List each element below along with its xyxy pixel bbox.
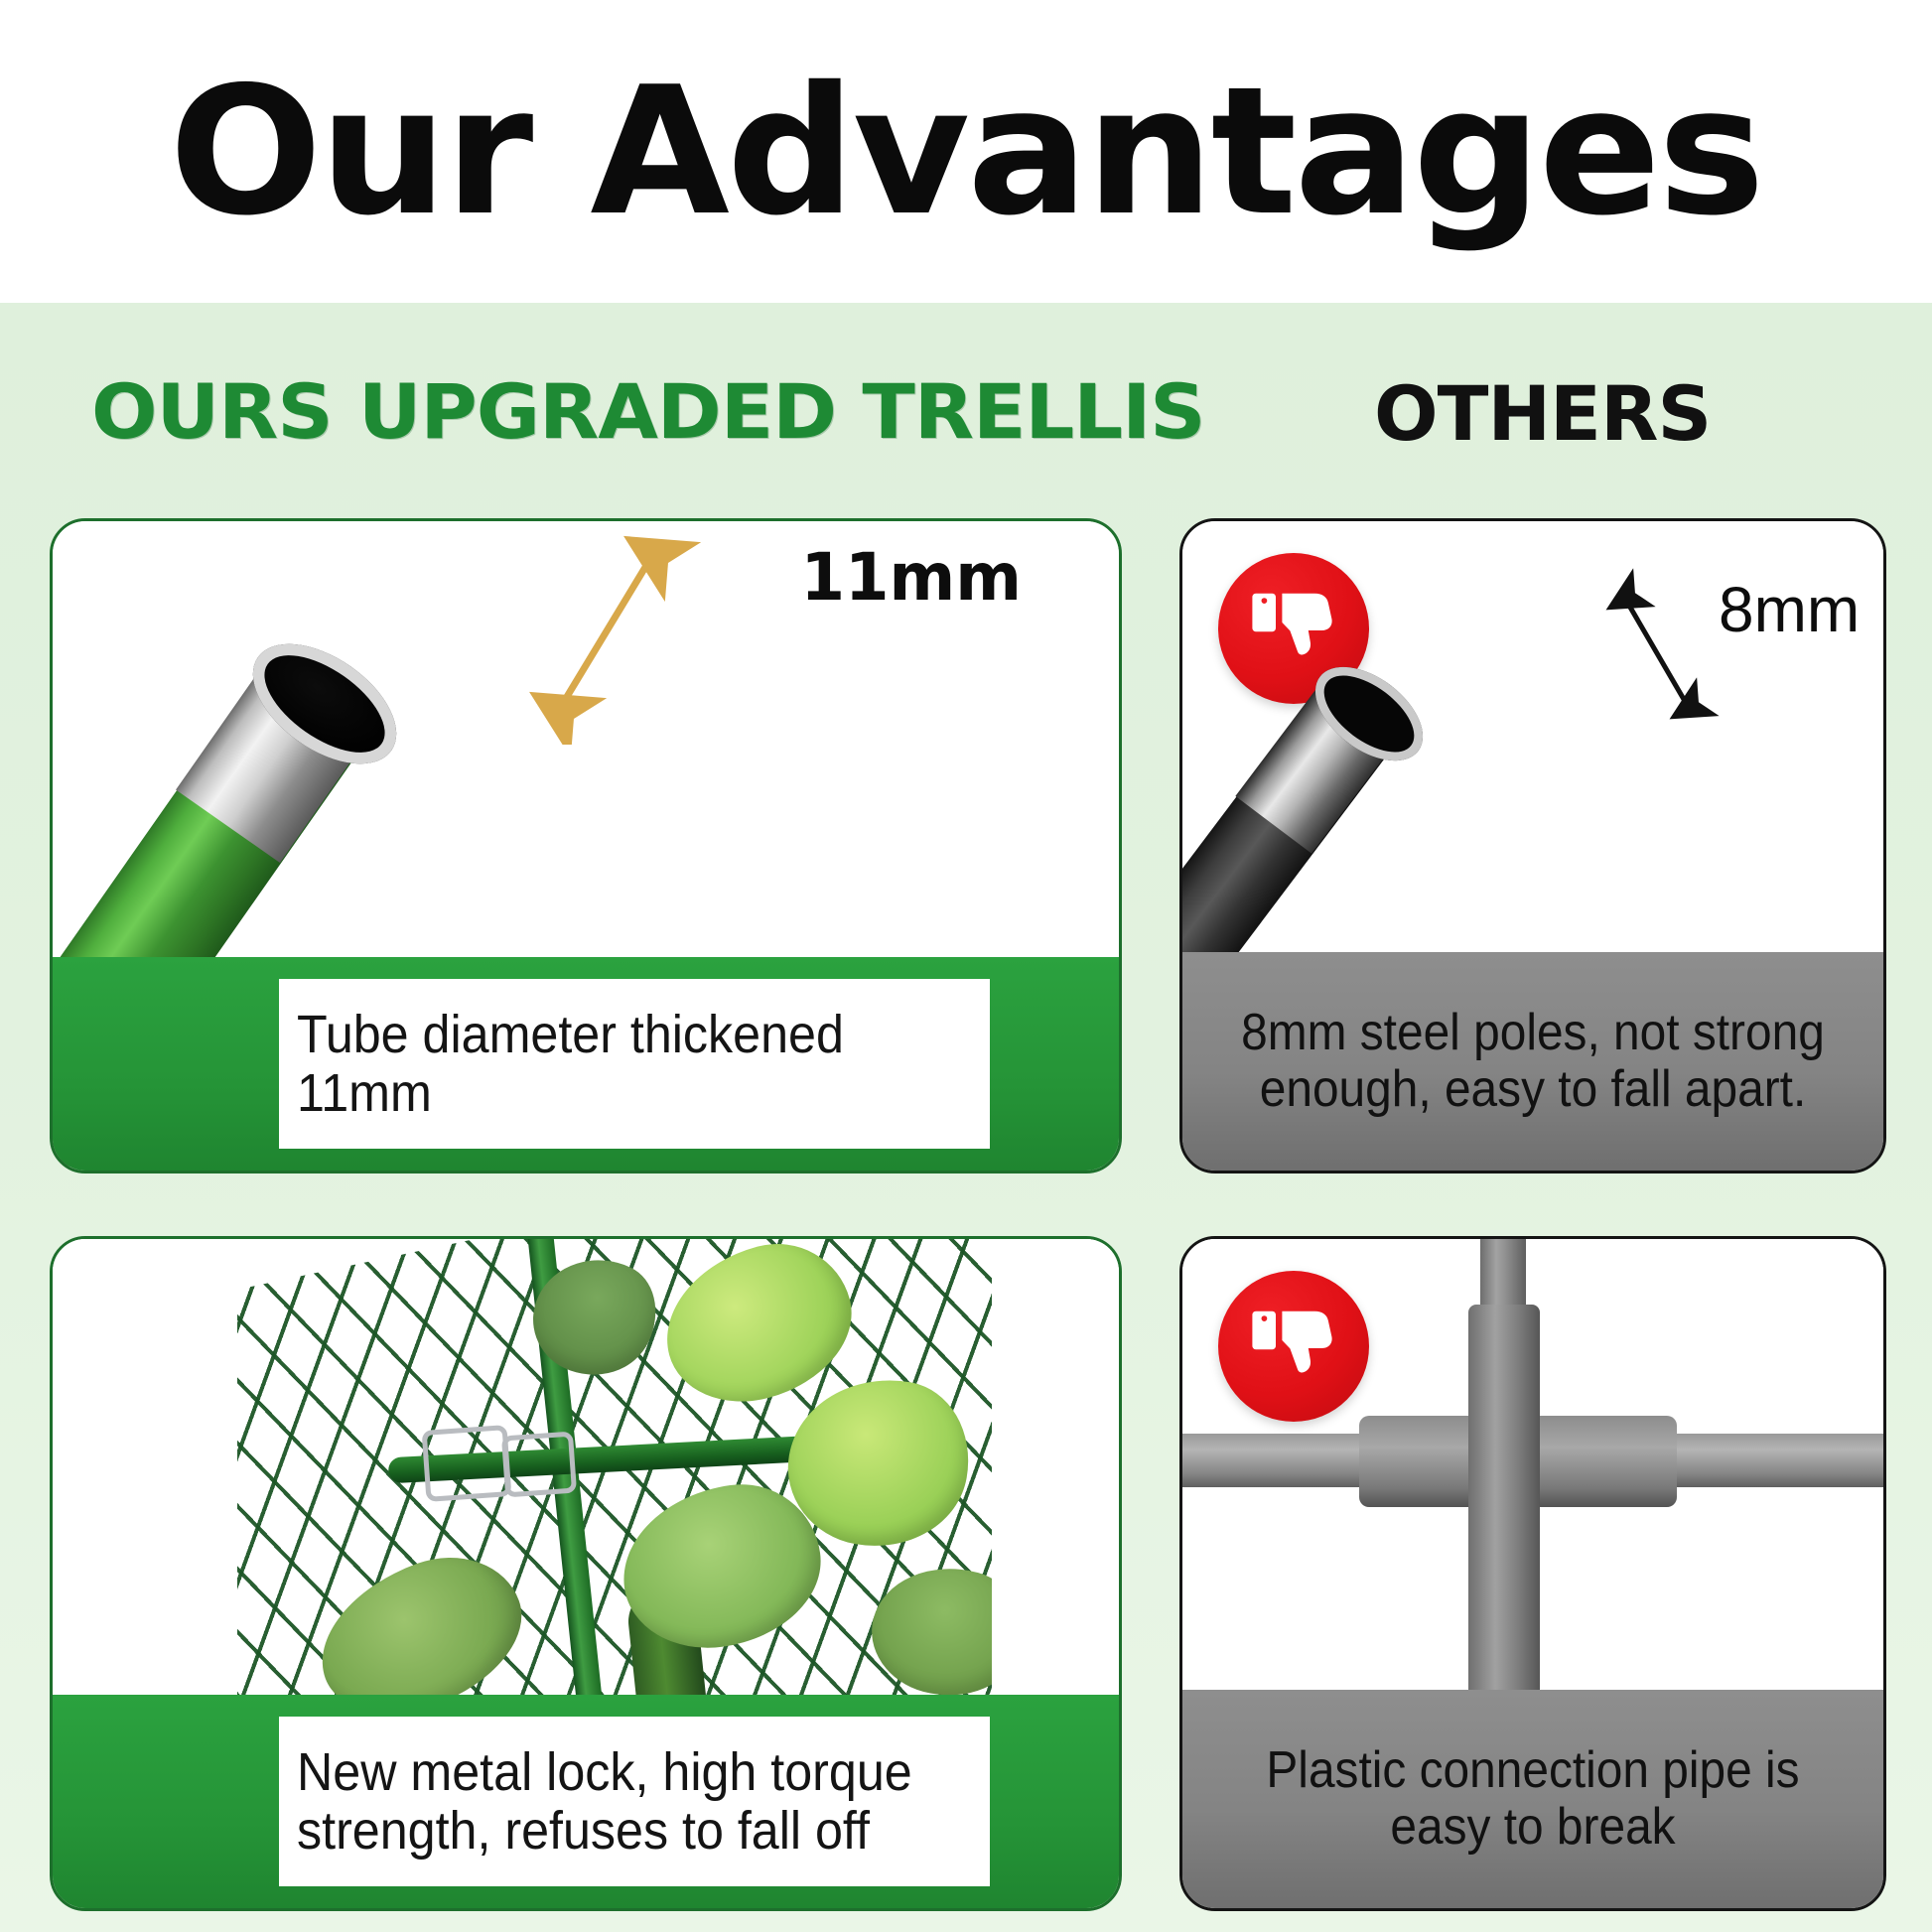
ours-tube-caption-bar: Tube diameter thickened 11mm	[53, 957, 1119, 1171]
dimension-label-11mm: 11mm	[800, 539, 1022, 616]
others-connector-caption-text: Plastic connection pipe is easy to break	[1229, 1742, 1838, 1856]
panel-ours-lock: New metal lock, high torque strength, re…	[50, 1236, 1122, 1911]
others-tube-caption-bar: 8mm steel poles, not strong enough, easy…	[1182, 952, 1883, 1171]
others-tube-image: 8mm	[1182, 521, 1883, 958]
others-connector-caption-bar: Plastic connection pipe is easy to break	[1182, 1690, 1883, 1908]
ours-lock-caption-text: New metal lock, high torque strength, re…	[297, 1743, 924, 1860]
others-connector-image	[1182, 1239, 1883, 1696]
plastic-connector-vertical-sleeve	[1468, 1305, 1540, 1696]
panel-ours-tube: 11mm Tube diameter thickened 11mm	[50, 518, 1122, 1173]
ours-tube-caption-text: Tube diameter thickened 11mm	[297, 1006, 924, 1122]
ours-lock-image	[53, 1239, 1119, 1696]
thumbs-down-icon	[1218, 1271, 1369, 1422]
metal-lock-clip	[422, 1425, 512, 1502]
others-tube-caption-text: 8mm steel poles, not strong enough, easy…	[1229, 1005, 1838, 1118]
page-title: Our Advantages	[170, 64, 1763, 240]
title-band: Our Advantages	[0, 0, 1932, 303]
ours-tube-caption-label: Tube diameter thickened 11mm	[279, 979, 990, 1149]
infographic-page: Our Advantages OURS UPGRADED TRELLIS OTH…	[0, 0, 1932, 1932]
ours-lock-caption-label: New metal lock, high torque strength, re…	[279, 1717, 990, 1886]
column-header-others: OTHERS	[1374, 369, 1711, 458]
column-header-ours: OURS UPGRADED TRELLIS	[91, 367, 1205, 456]
dimension-label-8mm: 8mm	[1719, 573, 1860, 646]
ours-tube-image: 11mm	[53, 521, 1119, 963]
panel-others-connector: Plastic connection pipe is easy to break	[1179, 1236, 1886, 1911]
dimension-arrow-11mm	[504, 518, 723, 745]
metal-lock-clip	[501, 1432, 577, 1498]
panel-others-tube: 8mm 8mm steel poles, not strong enough, …	[1179, 518, 1886, 1173]
ours-lock-caption-bar: New metal lock, high torque strength, re…	[53, 1695, 1119, 1908]
